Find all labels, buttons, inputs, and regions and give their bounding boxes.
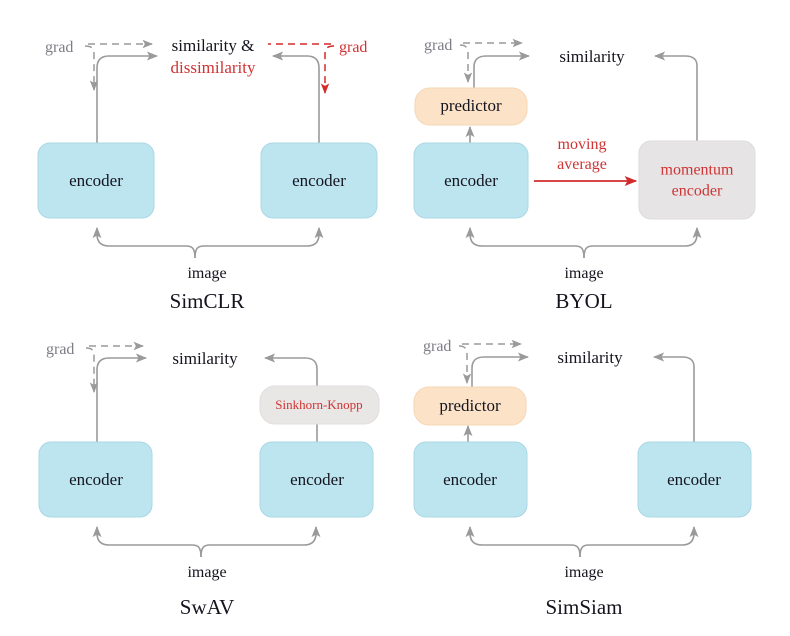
simclr-grad-right-label: grad: [339, 39, 367, 56]
swav-right-encoder-label: encoder: [290, 470, 344, 489]
swav-grad-label: grad: [46, 341, 74, 358]
simsiam-panel-title: SimSiam: [545, 595, 622, 619]
byol-panel-title: BYOL: [555, 289, 612, 313]
simsiam-predictor-to-similarity-arrow: [472, 357, 528, 387]
byol-predictor-label: predictor: [440, 96, 502, 115]
swav-sinkhorn-to-similarity-arrow: [265, 358, 317, 386]
simclr-image-brace: [97, 228, 319, 258]
simsiam-left-encoder-label: encoder: [443, 470, 497, 489]
swav-panel-title: SwAV: [180, 595, 234, 619]
simclr-image-label: image: [187, 265, 226, 282]
simclr-grad-left-label: grad: [45, 39, 73, 56]
swav-sinkhorn-knopp-label: Sinkhorn-Knopp: [275, 397, 362, 412]
simsiam-right-encoder-label: encoder: [667, 470, 721, 489]
byol-momentum-encoder-line2: encoder: [672, 183, 723, 200]
simsiam-image-label: image: [564, 564, 603, 581]
panel-simclr: grad grad similarity & dissimilarity enc…: [38, 36, 377, 313]
simclr-left-forward-arrow: [97, 56, 157, 143]
swav-image-brace: [97, 527, 316, 557]
byol-momentum-encoder-box: [639, 141, 755, 219]
simclr-right-forward-arrow: [273, 56, 319, 143]
panel-byol: grad similarity moving average predictor…: [414, 37, 755, 313]
simclr-left-grad-arrow: [85, 44, 152, 90]
simclr-left-encoder-label: encoder: [69, 171, 123, 190]
byol-grad-arrow: [460, 43, 522, 82]
simclr-objective-line1: similarity &: [172, 36, 255, 55]
simsiam-predictor-label: predictor: [439, 396, 501, 415]
panel-simsiam: grad similarity predictor encoder encode…: [414, 338, 751, 619]
simsiam-grad-arrow: [459, 344, 521, 383]
self-supervised-methods-figure: grad grad similarity & dissimilarity enc…: [0, 0, 790, 636]
simclr-right-encoder-label: encoder: [292, 171, 346, 190]
swav-left-forward-arrow: [97, 358, 146, 442]
swav-grad-arrow: [86, 346, 143, 392]
byol-image-label: image: [564, 265, 603, 282]
byol-momentum-to-similarity-arrow: [655, 56, 697, 143]
simclr-objective-line2: dissimilarity: [171, 58, 257, 77]
diagram-canvas: grad grad similarity & dissimilarity enc…: [0, 0, 790, 636]
simclr-right-grad-arrow: [268, 44, 334, 93]
swav-left-encoder-label: encoder: [69, 470, 123, 489]
simsiam-objective-label: similarity: [557, 348, 623, 367]
swav-image-label: image: [187, 564, 226, 581]
byol-momentum-encoder-line1: momentum: [661, 162, 734, 179]
simsiam-grad-label: grad: [423, 338, 451, 355]
panel-swav: grad similarity Sinkhorn-Knopp encoder e…: [39, 341, 379, 619]
simclr-panel-title: SimCLR: [170, 289, 245, 313]
byol-moving-average-line2: average: [557, 156, 607, 173]
byol-moving-average-line1: moving: [558, 136, 607, 153]
simsiam-image-brace: [470, 527, 694, 557]
swav-objective-label: similarity: [172, 349, 238, 368]
byol-grad-label: grad: [424, 37, 452, 54]
simsiam-right-forward-arrow: [654, 357, 694, 442]
byol-encoder-label: encoder: [444, 171, 498, 190]
byol-objective-label: similarity: [559, 47, 625, 66]
byol-predictor-to-similarity-arrow: [474, 56, 529, 88]
byol-image-brace: [470, 228, 697, 258]
